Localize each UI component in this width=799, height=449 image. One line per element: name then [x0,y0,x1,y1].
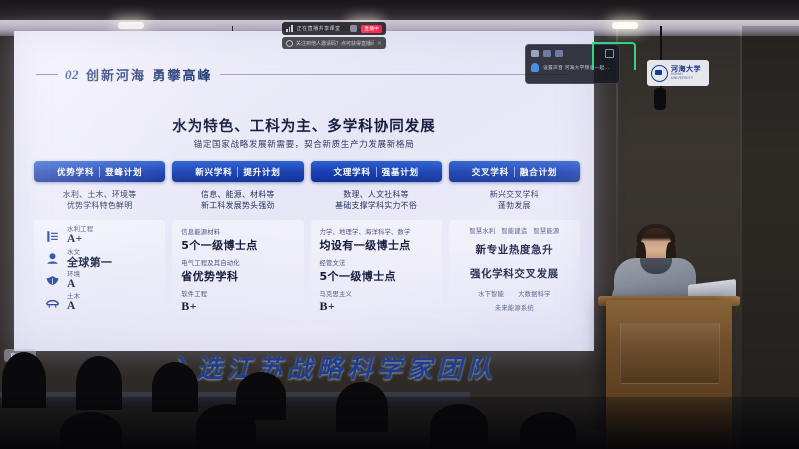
stream-chat-toast[interactable]: 关注到他人邀请码？点可获得直播间互动 ✕ [282,37,386,49]
discipline-row: 环境A [38,269,161,291]
discipline-row: 信息能源材料5个一级博士点 [176,225,299,256]
discipline-label: 力学、地理学、海洋科学、数学 [320,227,438,236]
column-caption: 水利、土木、环境等优势学科特色鲜明 [63,189,137,212]
tag-item: 未来能源系统 [495,303,534,312]
discipline-column-1: 优势学科登峰计划水利、土木、环境等优势学科特色鲜明水利工程A+水文全球第一环境A… [34,161,165,323]
discipline-label: 水文 [67,249,112,255]
discipline-label: 软件工程 [181,289,299,298]
discipline-row: 马克思主义B+ [315,287,438,317]
stream-status-banner[interactable]: 正在直播共享课堂 直播中 [282,22,386,35]
grid-view-icon[interactable] [531,50,539,57]
stream-banner-text: 正在直播共享课堂 [297,25,347,32]
section-number: 02 [65,67,79,83]
header-divider [99,167,100,177]
discipline-row: 软件工程B+ [176,287,299,317]
discipline-row: 水文全球第一 [38,247,161,269]
discipline-label: 水利工程 [67,226,93,232]
column-header-primary: 优势学科 [57,166,94,178]
discipline-value: 5个一级博士点 [181,237,299,253]
leaf-icon [44,272,61,289]
column-caption: 信息、能源、材料等新工科发展势头强劲 [201,189,275,212]
divider-right [220,74,570,75]
podium-front-panel [620,322,720,384]
discipline-label: 信息能源材料 [181,227,299,236]
column-header-3[interactable]: 文理学科强基计划 [311,161,442,182]
slide-main-title: 水为特色、工科为主、多学科协同发展 [14,115,594,136]
header-divider [376,167,377,177]
discipline-value: 全球第一 [67,257,112,268]
tag-item: 智慧水利 [469,226,495,235]
discipline-label: 环境 [67,271,80,277]
discipline-value: 省优势学科 [181,268,299,284]
hanging-microphone [654,88,666,110]
column-header-secondary: 强基计划 [382,166,419,178]
logo-text: 河海大学 HOHAI UNIVERSITY [671,66,705,80]
column-header-4[interactable]: 交叉学科融合计划 [449,161,580,182]
slide-section-header: 02 创新河海 勇攀高峰 [36,65,570,84]
discipline-column-2: 新兴学科提升计划信息、能源、材料等新工科发展势头强劲信息能源材料5个一级博士点电… [172,161,303,323]
highlight-line-1: 新专业热度急升 [453,242,576,257]
tag-row-bottom: 未来能源系统 [453,302,576,313]
tag-row-top: 智慧水利智能建造智慧能源 [453,225,576,236]
avatar-icon [350,25,357,32]
info-icon [286,40,293,47]
discipline-value: B+ [320,299,438,314]
list-icon[interactable] [555,50,563,57]
dam-icon [44,228,61,245]
column-header-secondary: 登峰计划 [105,166,142,178]
hohai-emblem-icon [651,65,668,82]
column-caption: 新兴交叉学科蓬勃发展 [490,189,539,212]
discipline-row: 经管文法5个一级博士点 [315,256,438,287]
column-header-secondary: 提升计划 [243,166,280,178]
calligraphy-banner: 入选江苏战略科学家团队 [142,349,522,385]
discipline-row: 电气工程及其自动化省优势学科 [176,256,299,287]
active-speaker-highlight [592,42,636,70]
foreground-shadow [0,397,799,449]
divider-left [36,74,58,75]
discipline-value: A [67,279,80,291]
discipline-value: 5个一级博士点 [320,268,438,284]
column-header-primary: 新兴学科 [195,166,232,178]
microphone-icon[interactable] [531,63,539,72]
header-divider [237,167,238,177]
stream-chat-text: 关注到他人邀请码？点可获得直播间互动 [296,40,374,47]
discipline-label: 土木 [67,293,80,299]
slide-sub-title: 锚定国家战略发展新需要，契合新质生产力发展新格局 [14,138,594,150]
discipline-value: A+ [67,234,93,246]
header-divider [514,167,515,177]
university-logo: 河海大学 HOHAI UNIVERSITY [647,60,709,86]
signal-bars-icon [286,25,293,32]
column-header-2[interactable]: 新兴学科提升计划 [172,161,303,182]
wall-panel [742,26,799,449]
tag-row-mid: 水下智能大数据科学 [453,288,576,299]
highlight-line-2: 强化学科交叉发展 [453,266,576,281]
discipline-label: 经管文法 [320,258,438,267]
close-icon[interactable]: ✕ [377,40,382,47]
column-header-1[interactable]: 优势学科登峰计划 [34,161,165,182]
livestream-frame: 02 创新河海 勇攀高峰 水为特色、工科为主、多学科协同发展 锚定国家战略发展新… [0,0,799,449]
tag-item: 智慧能源 [533,226,559,235]
discipline-row: 土木A [38,292,161,314]
column-header-primary: 文理学科 [333,166,370,178]
projection-screen: 02 创新河海 勇攀高峰 水为特色、工科为主、多学科协同发展 锚定国家战略发展新… [14,31,594,351]
discipline-label: 电气工程及其自动化 [181,258,299,267]
column-body: 信息能源材料5个一级博士点电气工程及其自动化省优势学科软件工程B+ [172,220,303,323]
bridge-icon [44,294,61,311]
column-body: 水利工程A+水文全球第一环境A土木A [34,220,165,320]
live-badge: 直播中 [361,25,382,33]
discipline-value: B+ [181,299,299,314]
column-body: 力学、地理学、海洋科学、数学均设有一级博士点经管文法5个一级博士点马克思主义B+ [311,220,442,323]
layout-icon[interactable] [543,50,551,57]
discipline-column-4: 交叉学科融合计划新兴交叉学科蓬勃发展智慧水利智能建造智慧能源新专业热度急升强化学… [449,161,580,323]
column-body: 智慧水利智能建造智慧能源新专业热度急升强化学科交叉发展水下智能大数据科学未来能源… [449,220,580,319]
discipline-label: 马克思主义 [320,289,438,298]
discipline-columns: 优势学科登峰计划水利、土木、环境等优势学科特色鲜明水利工程A+水文全球第一环境A… [34,161,580,323]
tag-item: 智能建造 [501,226,527,235]
discipline-row: 力学、地理学、海洋科学、数学均设有一级博士点 [315,225,438,256]
discipline-row: 水利工程A+ [38,225,161,247]
discipline-value: 均设有一级博士点 [320,237,438,253]
tag-item: 大数据科学 [518,289,550,298]
column-header-secondary: 融合计划 [520,166,557,178]
column-header-primary: 交叉学科 [472,166,509,178]
discipline-column-3: 文理学科强基计划数理、人文社科等基础支撑学科实力不俗力学、地理学、海洋科学、数学… [311,161,442,323]
logo-name-en: HOHAI UNIVERSITY [671,73,705,80]
ceiling-light [118,22,144,29]
column-caption: 数理、人文社科等基础支撑学科实力不俗 [335,189,417,212]
droplet-icon [44,250,61,267]
discipline-value: A [67,301,80,313]
section-title: 创新河海 勇攀高峰 [86,65,213,84]
tag-item: 水下智能 [478,289,504,298]
